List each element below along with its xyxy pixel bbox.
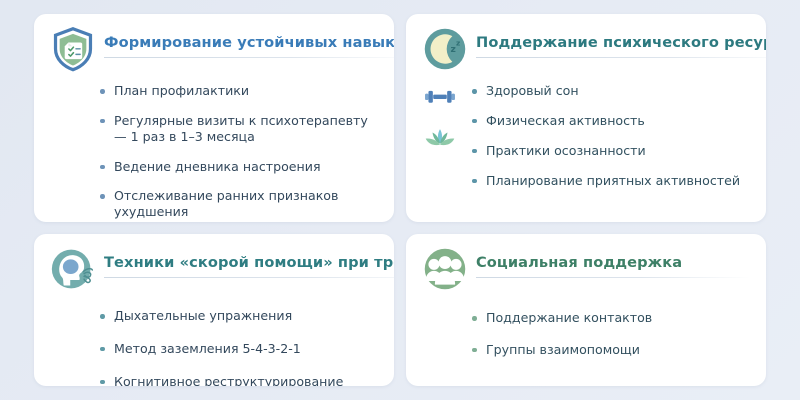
title-wrap: Социальная поддержка (476, 248, 750, 278)
bullet-list: Поддержание контактов Группы взаимопомощ… (422, 310, 750, 358)
lotus-icon (423, 126, 457, 152)
card-skills: Формирование устойчивых навыков План про… (34, 14, 394, 222)
list-item: Физическая активность (472, 113, 750, 129)
list-item: Ведение дневника настроения (100, 159, 378, 175)
card-title: Формирование устойчивых навыков (104, 35, 394, 51)
card-header: Формирование устойчивых навыков (50, 28, 378, 72)
bullet-list: Дыхательные упражнения Метод заземления … (50, 308, 378, 386)
dumbbell-icon (423, 86, 457, 112)
title-wrap: Техники «скорой помощи» при тревоге (104, 248, 394, 278)
list-item: Регулярные визиты к психотерапевту — 1 р… (100, 113, 378, 145)
title-divider (476, 277, 750, 278)
side-icon-column (420, 86, 460, 152)
list-item: План профилактики (100, 83, 378, 99)
list-item: Когнитивное реструктурирование (100, 374, 378, 386)
card-header: Социальная поддержка (422, 248, 750, 292)
list-item: Группы взаимопомощи (472, 342, 750, 358)
list-item: Планирование приятных активностей (472, 173, 750, 189)
infographic-page: Формирование устойчивых навыков План про… (0, 0, 800, 400)
title-wrap: Поддержание психического ресурса (476, 28, 766, 58)
title-divider (104, 277, 394, 278)
card-title: Поддержание психического ресурса (476, 35, 766, 51)
card-mental-resource: z z Поддержание психического ресурса (406, 14, 766, 222)
card-title: Социальная поддержка (476, 255, 750, 271)
list-item: Здоровый сон (472, 83, 750, 99)
people-group-icon (422, 246, 468, 292)
card-title: Техники «скорой помощи» при тревоге (104, 255, 394, 271)
card-header: Техники «скорой помощи» при тревоге (50, 248, 378, 292)
title-divider (104, 57, 394, 58)
list-item: Метод заземления 5-4-3-2-1 (100, 341, 378, 357)
list-item: Дыхательные упражнения (100, 308, 378, 324)
title-wrap: Формирование устойчивых навыков (104, 28, 394, 58)
moon-sleep-icon: z z (422, 26, 468, 72)
bullet-list: Здоровый сон Физическая активность Практ… (422, 83, 750, 188)
title-divider (476, 57, 766, 58)
bullet-list: План профилактики Регулярные визиты к пс… (50, 83, 378, 220)
card-emergency-techniques: Техники «скорой помощи» при тревоге Дыха… (34, 234, 394, 386)
breathing-head-icon (50, 246, 96, 292)
list-item: Практики осознанности (472, 143, 750, 159)
svg-text:z: z (456, 38, 460, 47)
card-social-support: Социальная поддержка Поддержание контакт… (406, 234, 766, 386)
list-item: Поддержание контактов (472, 310, 750, 326)
svg-text:z: z (451, 44, 456, 55)
list-item: Отслеживание ранних признаков ухудшения (100, 188, 378, 220)
shield-checklist-icon (50, 26, 96, 72)
card-header: z z Поддержание психического ресурса (422, 28, 750, 72)
